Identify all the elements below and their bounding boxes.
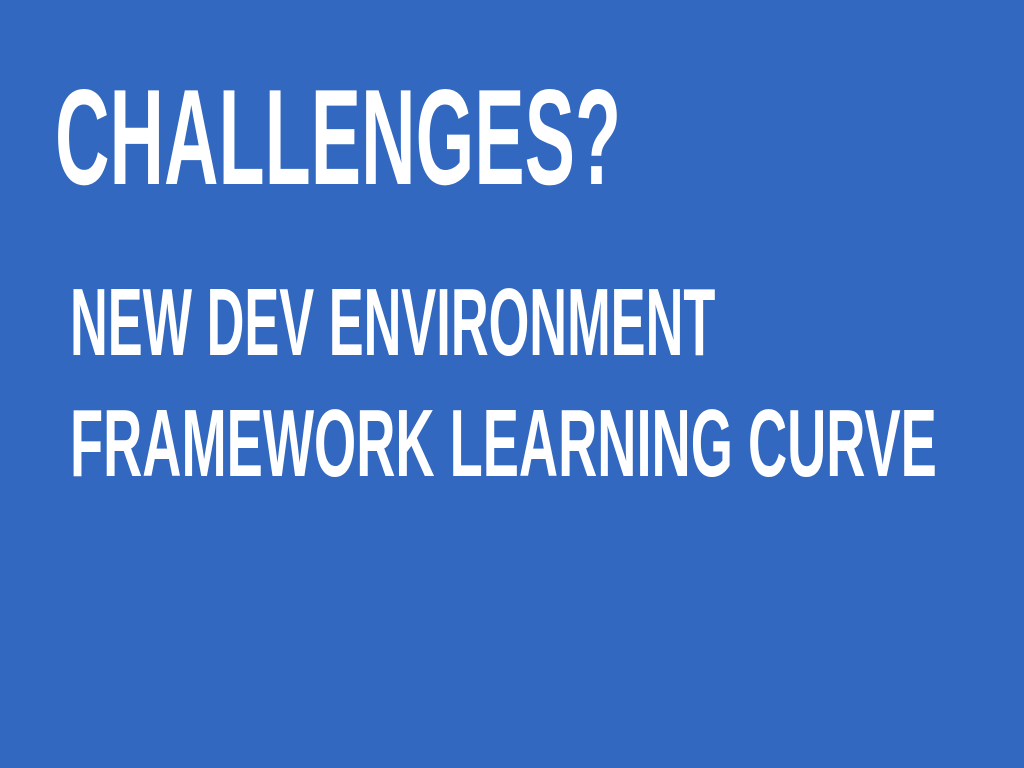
body-line-2: FRAMEWORK LEARNING CURVE <box>70 383 624 504</box>
page-title: CHALLENGES? <box>55 78 621 196</box>
slide-body: NEW DEV ENVIRONMENT FRAMEWORK LEARNING C… <box>70 262 1024 504</box>
slide-content: CHALLENGES? NEW DEV ENVIRONMENT FRAMEWOR… <box>0 0 1024 768</box>
body-line-1: NEW DEV ENVIRONMENT <box>70 262 604 383</box>
presentation-slide: CHALLENGES? NEW DEV ENVIRONMENT FRAMEWOR… <box>0 0 1024 768</box>
